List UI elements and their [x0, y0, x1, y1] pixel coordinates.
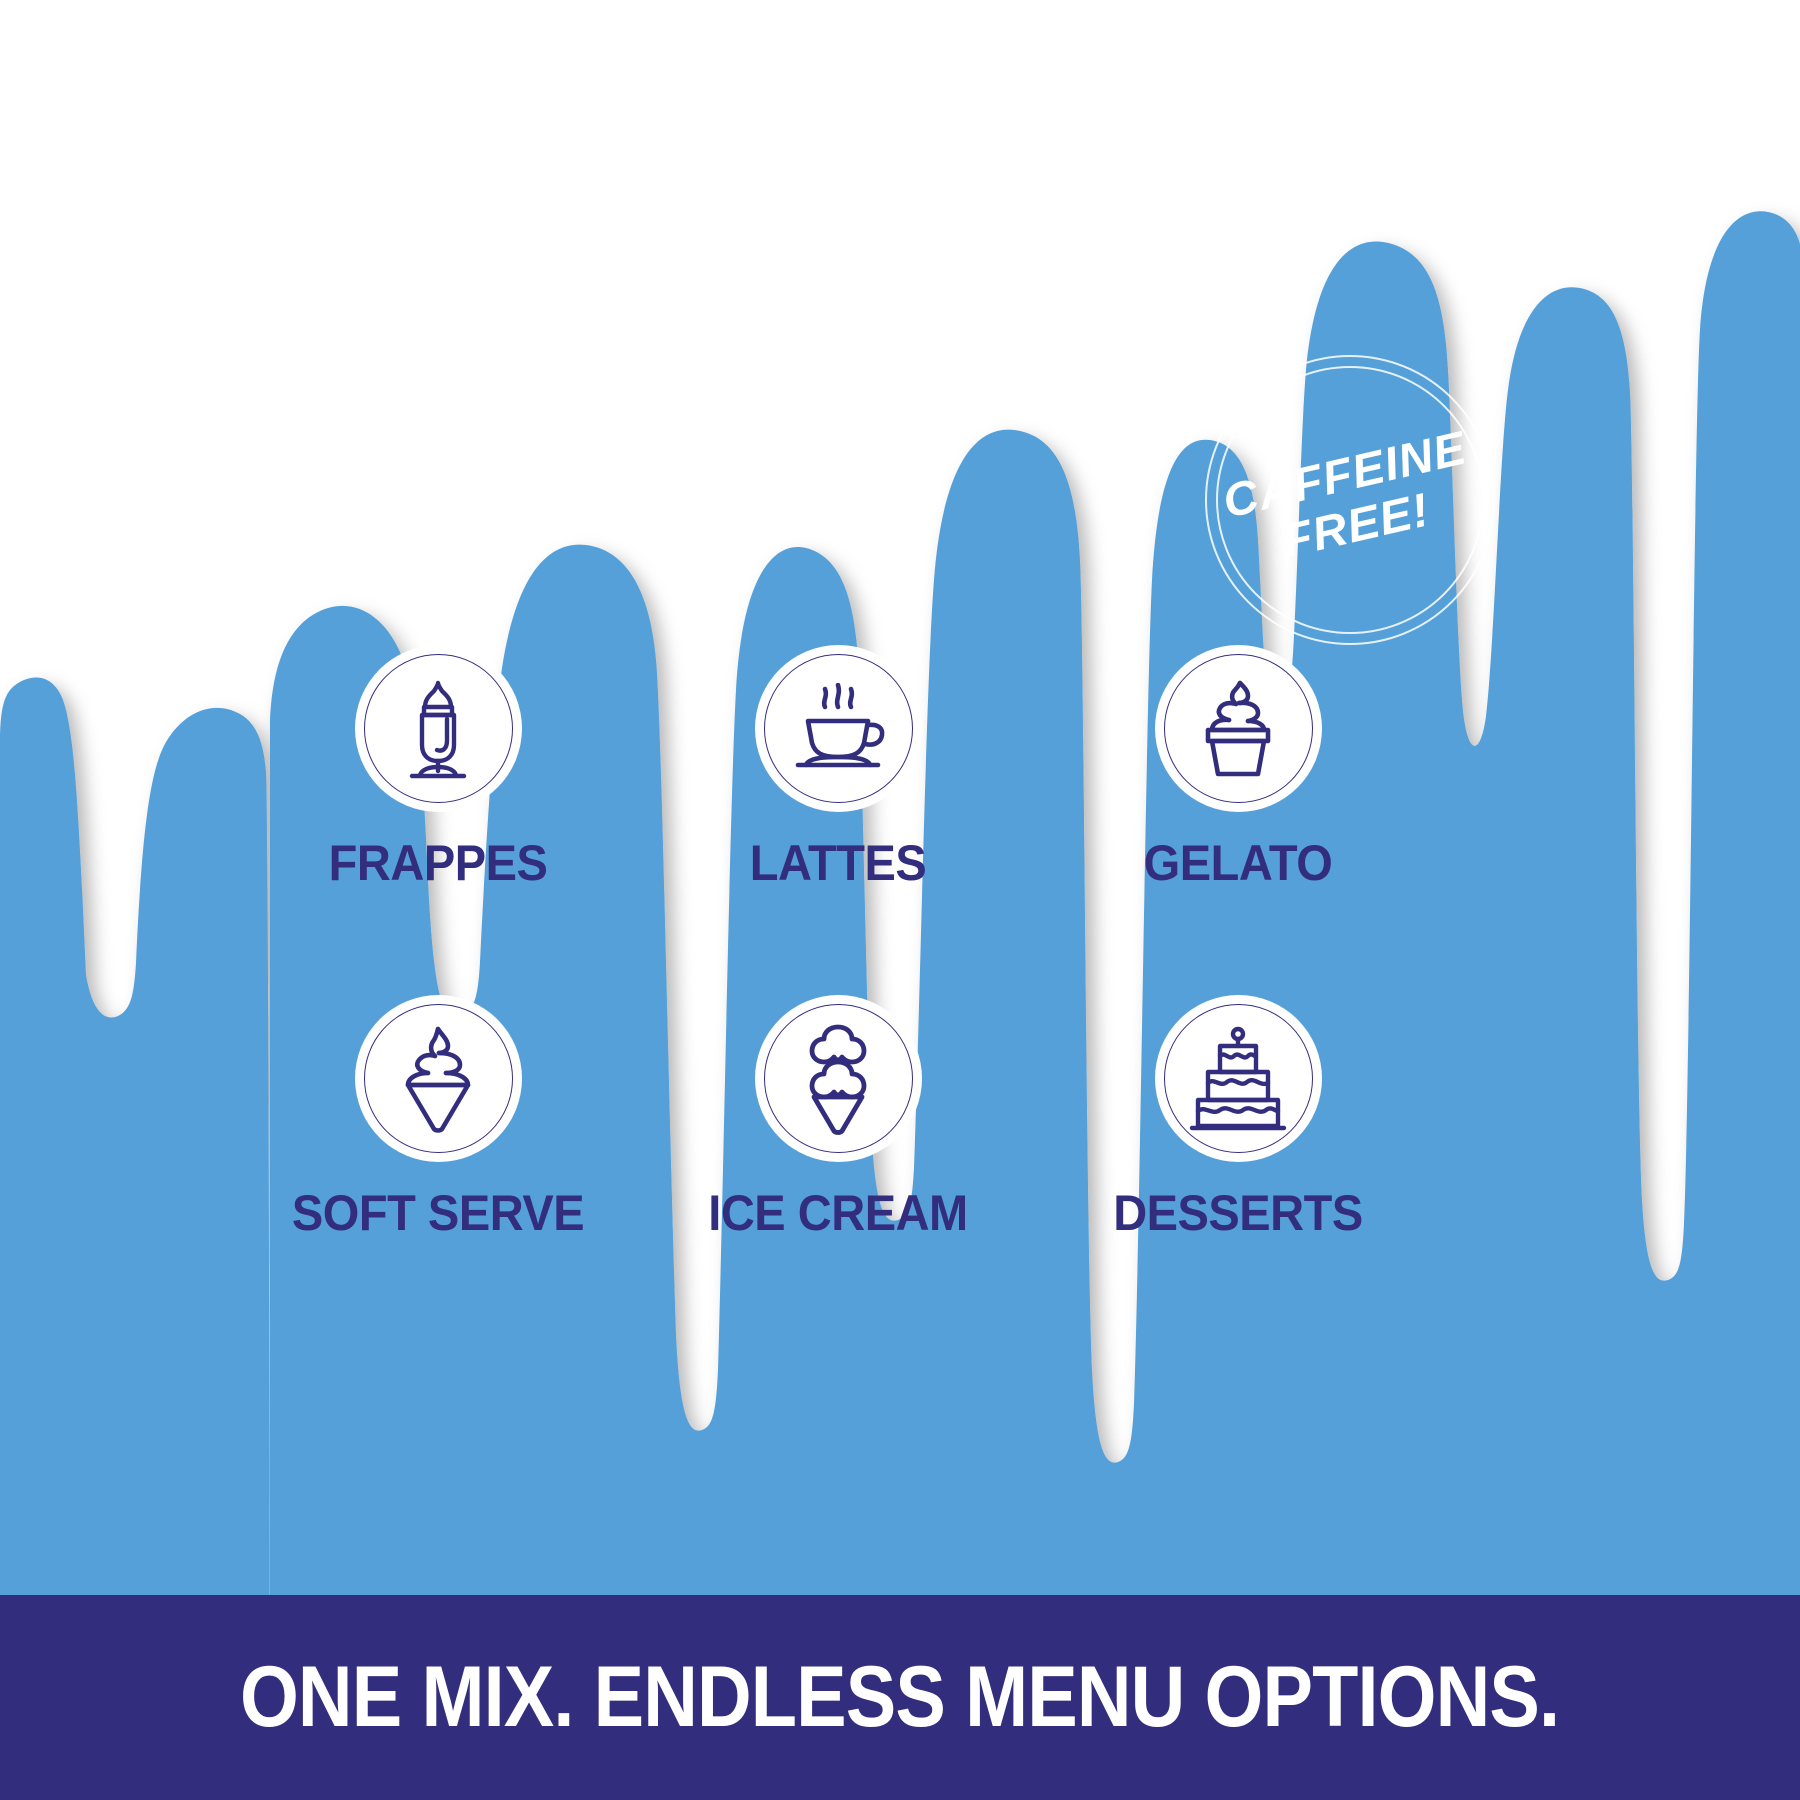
- menu-item-lattes[interactable]: LATTES: [638, 645, 1038, 892]
- gelato-icon-badge: [1155, 645, 1322, 812]
- tiered-cake-icon: [1184, 1026, 1292, 1132]
- gelato-tub-icon: [1188, 677, 1288, 781]
- frappe-icon-badge: [355, 645, 522, 812]
- menu-item-label: DESSERTS: [1050, 1184, 1426, 1242]
- soft-serve-cone-icon: [390, 1025, 486, 1133]
- menu-options-grid: FRAPPES LATTES: [238, 645, 1558, 1285]
- ice-cream-icon-badge: [755, 995, 922, 1162]
- latte-icon-badge: [755, 645, 922, 812]
- bottom-banner: ONE MIX. ENDLESS MENU OPTIONS.: [0, 1595, 1800, 1800]
- desserts-icon-badge: [1155, 995, 1322, 1162]
- menu-item-frappes[interactable]: FRAPPES: [238, 645, 638, 892]
- menu-item-gelato[interactable]: GELATO: [1038, 645, 1438, 892]
- menu-item-label: LATTES: [650, 834, 1026, 892]
- menu-item-desserts[interactable]: DESSERTS: [1038, 995, 1438, 1242]
- menu-item-soft-serve[interactable]: SOFT SERVE: [238, 995, 638, 1242]
- caffeine-free-badge: CAFFEINE FREE!: [1205, 355, 1495, 645]
- banner-headline: ONE MIX. ENDLESS MENU OPTIONS.: [240, 1648, 1559, 1747]
- badge-text-group: CAFFEINE FREE!: [1176, 326, 1524, 674]
- menu-item-ice-cream[interactable]: ICE CREAM: [638, 995, 1038, 1242]
- menu-item-label: ICE CREAM: [650, 1184, 1026, 1242]
- menu-item-label: SOFT SERVE: [250, 1184, 626, 1242]
- poster-canvas: CAFFEINE FREE!: [0, 0, 1800, 1800]
- menu-item-label: FRAPPES: [250, 834, 626, 892]
- frappe-glass-icon: [392, 679, 484, 779]
- ice-cream-cone-scoops-icon: [792, 1023, 884, 1135]
- soft-serve-icon-badge: [355, 995, 522, 1162]
- coffee-cup-icon: [786, 683, 890, 775]
- menu-item-label: GELATO: [1050, 834, 1426, 892]
